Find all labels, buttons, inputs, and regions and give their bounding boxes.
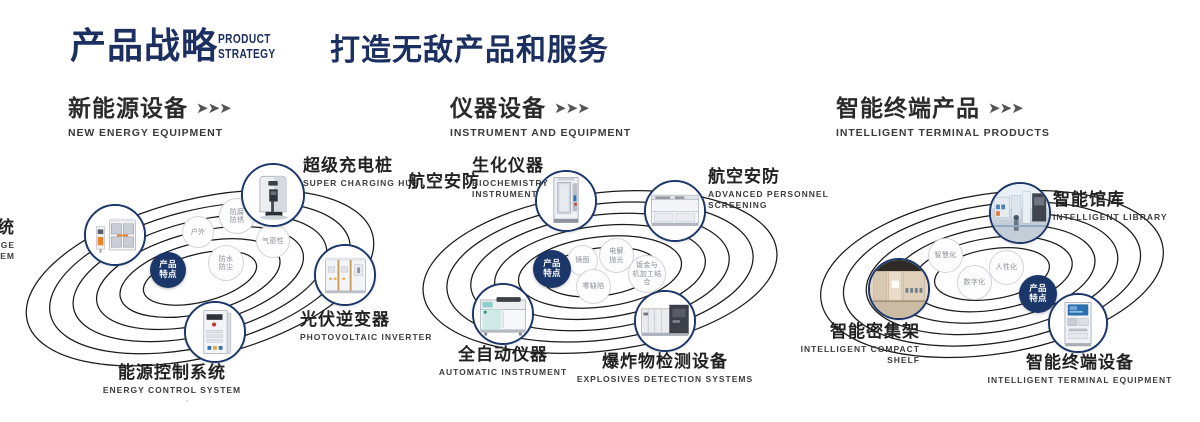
feature-tag-label: 镜面 [575,256,590,265]
energy-storage-cabinet-icon [86,206,144,264]
label-cn: 爆炸物检测设备 [577,352,753,372]
node-intelligent-terminal-equipment[interactable] [1048,293,1108,353]
explosives-detector-icon [636,292,694,350]
page-title-en-line1: PRODUCT [218,31,276,46]
automatic-analyzer-icon [474,285,532,343]
diagram-intelligent-terminal: 智慧化 数字化 人性化 产品特点 [800,150,1200,400]
page-title-cn: 产品战略 [70,27,218,67]
feature-tag-label-line1: 防水 [219,255,234,264]
diagram-new-energy: 户外 防腐防锈 防水防尘 气密性 产品特点 [0,150,400,400]
section-title-en: NEW ENERGY EQUIPMENT [68,127,231,139]
label-cn: 能源控制系统 [103,363,241,383]
feature-tag-smart: 智慧化 [928,238,963,273]
charging-pile-icon [243,165,303,225]
label-cn: 智能终端设备 [988,353,1173,373]
feature-tag-label: 气密性 [262,237,284,246]
node-super-charging-hub[interactable] [241,163,305,227]
compact-shelving-icon [870,260,928,318]
label-en-line1: INTELLIGENT TERMINAL EQUIPMENT [988,375,1173,386]
control-cabinet-icon [186,303,244,361]
label-cn: 储能系统 [0,218,15,238]
label-cn: 全自动仪器 [439,345,567,365]
feature-tag-label-line2: 防尘 [219,263,234,272]
label-automatic-instrument: 全自动仪器 AUTOMATIC INSTRUMENT [439,345,567,378]
node-explosives-detection-systems[interactable] [634,290,696,352]
label-en-line1: ENERGY STORAGE [0,240,15,251]
label-en-line1: AUTOMATIC INSTRUMENT [439,367,567,378]
label-aviation-security-left: 航空安防 [408,172,480,192]
node-energy-storage-system[interactable] [84,204,146,266]
label-intelligent-compact-shelf: 智能密集架 INTELLIGENT COMPACT SHELF [760,322,920,366]
self-service-kiosk-icon [1050,295,1106,351]
diagram-instrument: 镜面 电解抛光 零缺陷 钣金与机加工结合 产品特点 航空安防 [400,150,800,400]
core-tag-line2: 特点 [543,269,561,279]
spacer [186,400,188,402]
feature-tag-label: 人性化 [996,263,1018,272]
label-cn: 生化仪器 [472,156,549,176]
feature-tag-label-line1: 电解 [609,247,624,256]
library-interior-icon [991,184,1049,242]
label-en-line1: BIOCHEMISTRY [472,178,549,189]
section-title-cn: 新能源设备➤➤➤ [68,95,231,123]
feature-tag-waterproof: 防水防尘 [208,245,244,281]
label-cn: 智能密集架 [760,322,920,342]
screening-machine-icon [646,182,704,240]
section-heading-intelligent-terminal: 智能终端产品➤➤➤ INTELLIGENT TERMINAL PRODUCTS [836,95,1050,139]
section-title-en: INSTRUMENT AND EQUIPMENT [450,127,631,139]
feature-tag-label-line1: 钣金与 [629,261,665,270]
core-tag-line2: 特点 [1029,294,1047,304]
feature-tag-humanized: 人性化 [989,250,1024,285]
label-en-line1: INTELLIGENT LIBRARY [1053,212,1168,223]
section-heading-instrument: 仪器设备➤➤➤ INSTRUMENT AND EQUIPMENT [450,95,631,139]
node-energy-control-system[interactable] [184,301,246,363]
section-title-en: INTELLIGENT TERMINAL PRODUCTS [836,127,1050,139]
label-en-line2: SYSTEM [0,251,15,262]
label-explosives-detection-systems: 爆炸物检测设备 EXPLOSIVES DETECTION SYSTEMS [577,352,753,385]
label-en-line2: SHELF [760,355,920,366]
core-tag-line1: 产品 [543,259,561,269]
label-energy-storage-system: 储能系统 ENERGY STORAGE SYSTEM [0,218,15,262]
chevron-right-icon: ➤➤➤ [554,95,589,122]
feature-tag-label-line2: 抛光 [609,256,624,265]
node-automatic-instrument[interactable] [472,283,534,345]
label-cn: 智能馆库 [1053,190,1168,210]
product-strategy-infographic: 产品战略 PRODUCT STRATEGY 打造无敌产品和服务 新能源设备➤➤➤… [0,0,1200,422]
chevron-right-icon: ➤➤➤ [988,95,1023,122]
label-intelligent-library: 智能馆库 INTELLIGENT LIBRARY [1053,190,1168,223]
label-energy-control-system: 能源控制系统 ENERGY CONTROL SYSTEM [103,363,241,396]
feature-tag-label: 智慧化 [935,251,957,260]
page-title-en: PRODUCT STRATEGY [218,31,276,61]
node-intelligent-compact-shelf[interactable] [868,258,930,320]
pv-inverter-cabinet-icon [316,246,374,304]
core-tag-product-features: 产品特点 [533,250,571,288]
feature-tag-airtightness: 气密性 [256,224,290,258]
node-intelligent-library[interactable] [989,182,1051,244]
label-intelligent-terminal-equipment: 智能终端设备 INTELLIGENT TERMINAL EQUIPMENT [988,353,1173,386]
section-title-cn: 智能终端产品➤➤➤ [836,95,1050,123]
core-tag-product-features: 产品特点 [150,252,186,288]
feature-tag-outdoor: 户外 [182,216,214,248]
label-en-line2: INSTRUMENT [472,189,549,200]
page-title-en-line2: STRATEGY [218,46,276,61]
feature-tag-zero-defect: 零缺陷 [576,269,611,304]
section-title-cn: 仪器设备➤➤➤ [450,95,631,123]
node-advanced-personnel-screening[interactable] [644,180,706,242]
feature-tag-label: 户外 [191,228,206,237]
feature-tag-label-line2: 机加工结合 [629,270,665,287]
label-en-line1: ENERGY CONTROL SYSTEM [103,385,241,396]
core-tag-line2: 特点 [159,270,177,280]
feature-tag-digital: 数字化 [957,265,992,300]
core-tag-line1: 产品 [159,260,177,270]
feature-tag-sheetmetal-machining: 钣金与机加工结合 [628,255,666,293]
label-cn: 航空安防 [408,172,480,192]
section-heading-new-energy: 新能源设备➤➤➤ NEW ENERGY EQUIPMENT [68,95,231,139]
page-header: 产品战略 PRODUCT STRATEGY 打造无敌产品和服务 [0,0,1200,86]
label-biochemistry-instrument: 生化仪器 BIOCHEMISTRY INSTRUMENT [472,156,549,200]
core-tag-line1: 产品 [1029,284,1047,294]
page-slogan: 打造无敌产品和服务 [330,33,609,69]
feature-tag-label: 数字化 [964,278,986,287]
label-en-line1: EXPLOSIVES DETECTION SYSTEMS [577,374,753,385]
node-photovoltaic-inverter[interactable] [314,244,376,306]
chevron-right-icon: ➤➤➤ [196,95,231,122]
feature-tag-label: 零缺陷 [583,282,605,291]
label-en-line1: INTELLIGENT COMPACT [760,344,920,355]
